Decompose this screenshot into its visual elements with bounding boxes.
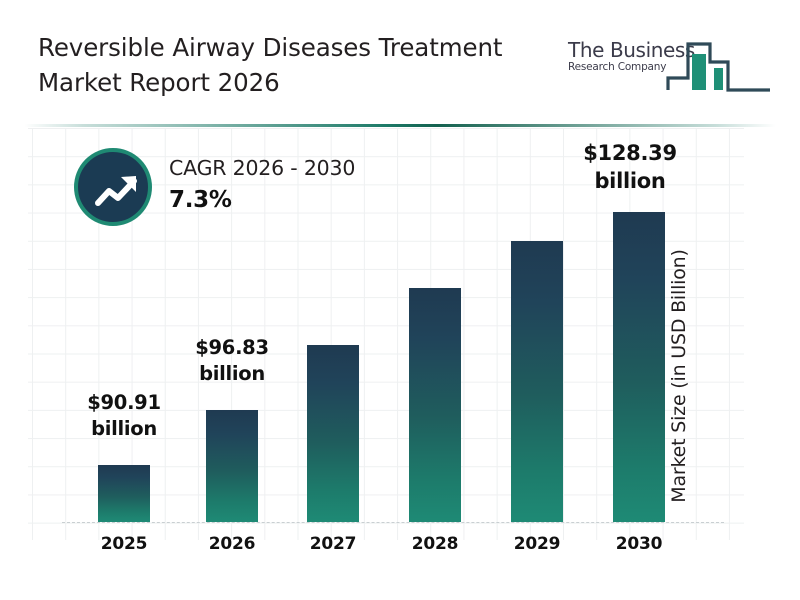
chart-baseline <box>62 522 724 524</box>
bar-2028 <box>409 288 461 522</box>
bar-2026 <box>206 410 258 522</box>
company-logo: The Business Research Company <box>566 30 772 98</box>
value-label-2030-amount: $128.39 <box>580 140 680 168</box>
x-axis-label-2027: 2027 <box>283 534 383 554</box>
page-title: Reversible Airway Diseases Treatment Mar… <box>38 31 558 101</box>
x-axis-label-2029: 2029 <box>487 534 587 554</box>
y-axis-title: Market Size (in USD Billion) <box>668 216 690 536</box>
x-axis-label-2028: 2028 <box>385 534 485 554</box>
value-label-2026-amount: $96.83 <box>182 335 282 361</box>
value-label-2025-unit: billion <box>74 416 174 442</box>
x-axis-label-2025: 2025 <box>74 534 174 554</box>
cagr-period-label: CAGR 2026 - 2030 <box>169 156 355 182</box>
value-label-2025: $90.91billion <box>74 390 174 441</box>
bar-chart-logo-icon <box>666 30 772 102</box>
value-label-2026-unit: billion <box>182 361 282 387</box>
bar-2030 <box>613 212 665 522</box>
x-axis-label-2026: 2026 <box>182 534 282 554</box>
bar-chart: $90.91billion$96.83billion$128.39billion… <box>0 126 800 600</box>
value-label-2025-amount: $90.91 <box>74 390 174 416</box>
bar-2027 <box>307 345 359 522</box>
cagr-badge-circle <box>74 148 152 226</box>
x-axis-label-2030: 2030 <box>589 534 689 554</box>
trending-up-icon <box>94 170 140 212</box>
cagr-value: 7.3% <box>169 186 355 216</box>
value-label-2026: $96.83billion <box>182 335 282 386</box>
header: Reversible Airway Diseases Treatment Mar… <box>0 0 800 126</box>
bar-2025 <box>98 465 150 522</box>
value-label-2030: $128.39billion <box>580 140 680 195</box>
cagr-callout: CAGR 2026 - 2030 7.3% <box>74 148 404 232</box>
value-label-2030-unit: billion <box>580 168 680 196</box>
bar-2029 <box>511 241 563 522</box>
cagr-text-block: CAGR 2026 - 2030 7.3% <box>169 156 355 216</box>
